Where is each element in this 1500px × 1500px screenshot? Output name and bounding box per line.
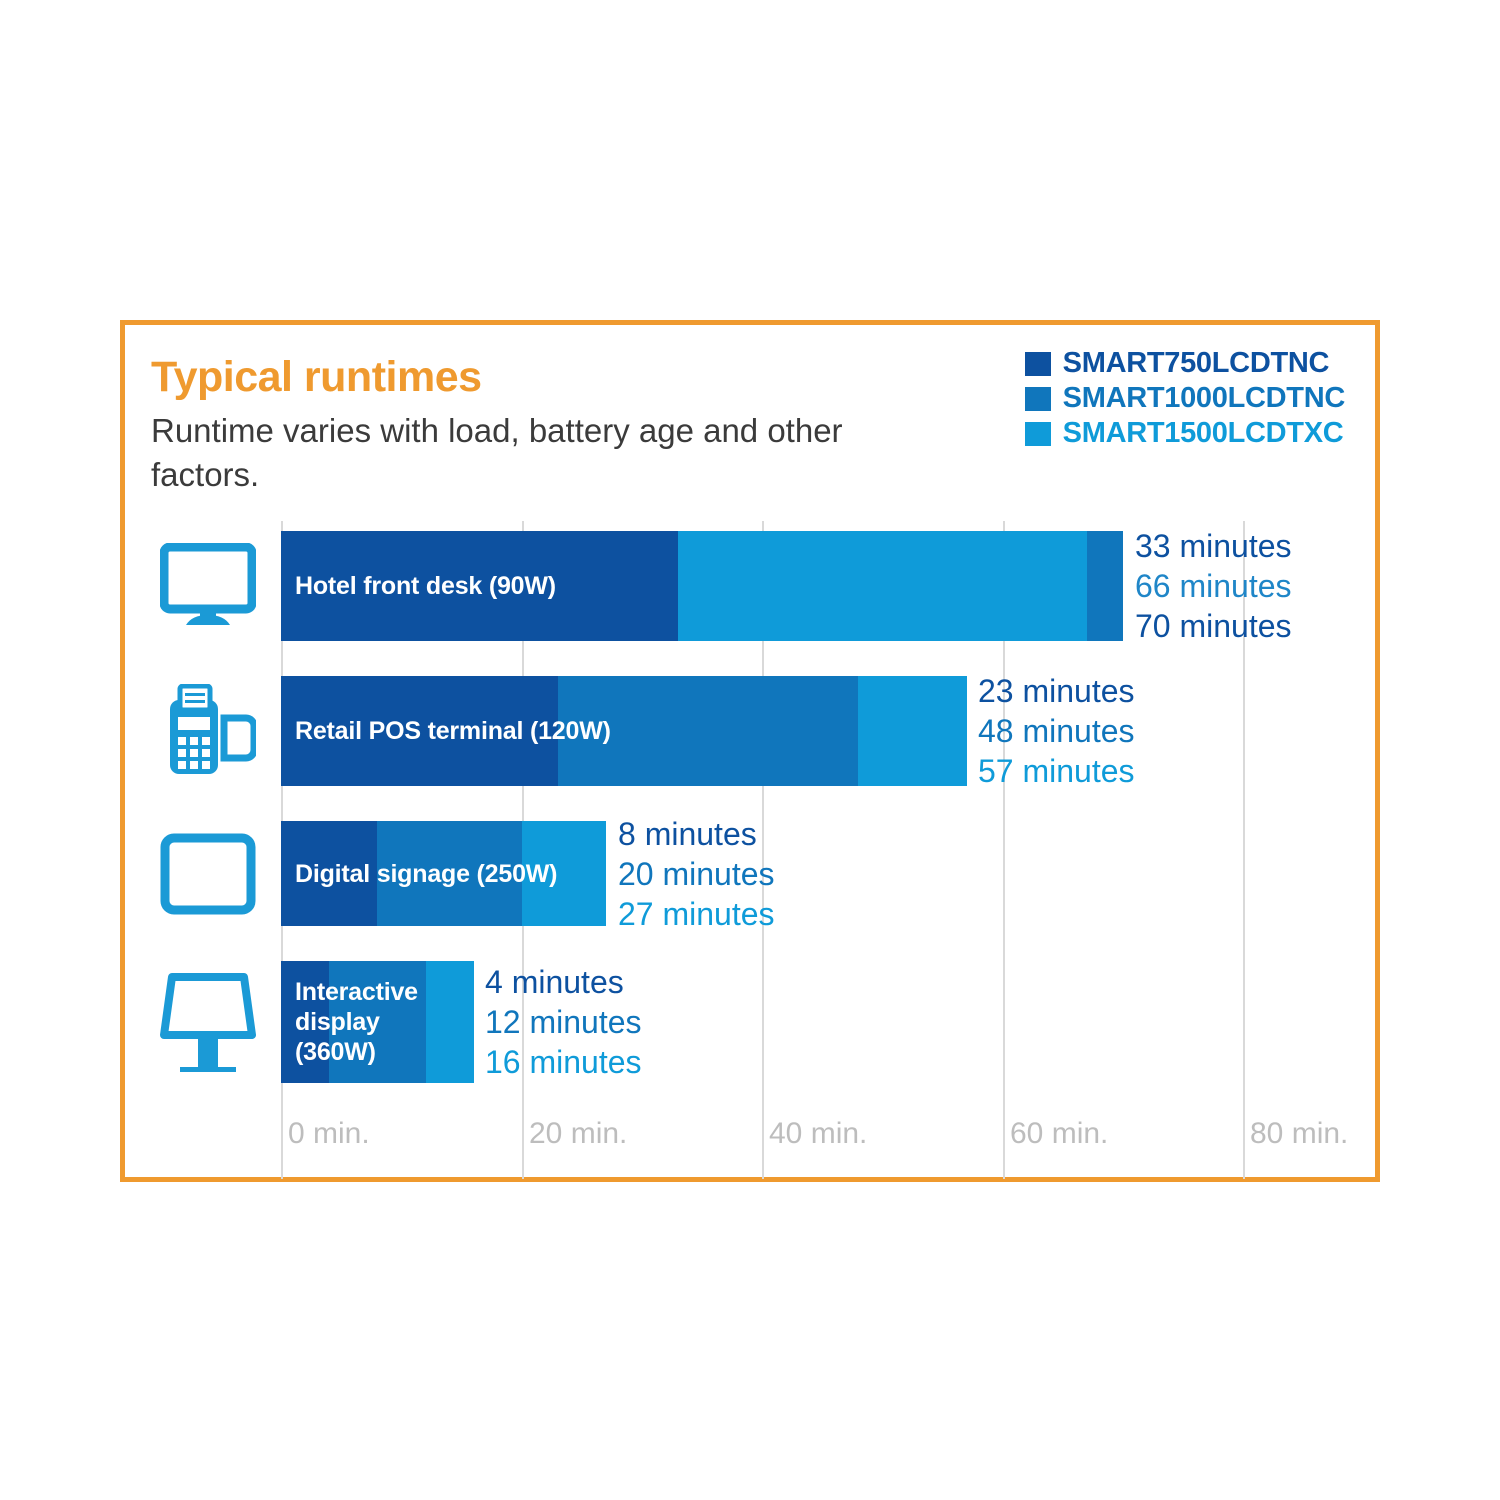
value-labels: 33 minutes 66 minutes 70 minutes <box>1135 531 1292 641</box>
value-label: 48 minutes <box>978 711 1135 751</box>
legend-item: SMART750LCDTNC <box>1025 347 1330 380</box>
chart-canvas: Typical runtimes Runtime varies with loa… <box>0 0 1500 1500</box>
legend-item-label: SMART1000LCDTNC <box>1063 382 1345 415</box>
value-label: 4 minutes <box>485 962 642 1002</box>
page-subtitle: Runtime varies with load, battery age an… <box>151 409 851 497</box>
legend-item: SMART1500LCDTXC <box>1025 417 1344 450</box>
value-label: 70 minutes <box>1135 606 1292 646</box>
legend-swatch-icon <box>1025 422 1051 446</box>
bar-row: Interactive display (360W) 4 minutes 12 … <box>125 961 1375 1083</box>
bar-interactive-display: Interactive display (360W) <box>281 961 474 1083</box>
legend: SMART750LCDTNC SMART1000LCDTNC SMART1500… <box>1025 347 1345 450</box>
bar-digital-signage: Digital signage (250W) <box>281 821 606 926</box>
bar-label: Retail POS terminal (120W) <box>295 716 611 746</box>
monitor-icon-svg <box>160 543 256 629</box>
bar-row: Retail POS terminal (120W) 23 minutes 48… <box>125 676 1375 786</box>
value-label: 23 minutes <box>978 671 1135 711</box>
axis-tick-label: 80 min. <box>1250 1117 1348 1151</box>
bar-retail-pos-terminal: Retail POS terminal (120W) <box>281 676 967 786</box>
chart-frame: Typical runtimes Runtime varies with loa… <box>120 320 1380 1182</box>
kiosk-icon-svg <box>160 967 256 1077</box>
axis-tick-label: 40 min. <box>769 1117 867 1151</box>
page-title: Typical runtimes <box>151 353 482 402</box>
bar-row: Hotel front desk (90W) 33 minutes 66 min… <box>125 531 1375 641</box>
bar-row: Digital signage (250W) 8 minutes 20 minu… <box>125 821 1375 926</box>
bar-hotel-front-desk: Hotel front desk (90W) <box>281 531 1123 641</box>
legend-swatch-icon <box>1025 387 1051 411</box>
pos-terminal-icon <box>150 676 265 786</box>
plot-area: 0 min. 20 min. 40 min. 60 min. 80 min. <box>125 521 1375 1179</box>
value-label: 27 minutes <box>618 894 775 934</box>
value-labels: 4 minutes 12 minutes 16 minutes <box>485 961 642 1083</box>
legend-swatch-icon <box>1025 352 1051 376</box>
kiosk-icon <box>150 961 265 1083</box>
axis-tick-label: 0 min. <box>288 1117 370 1151</box>
value-label: 57 minutes <box>978 751 1135 791</box>
axis-tick-label: 20 min. <box>529 1117 627 1151</box>
legend-item: SMART1000LCDTNC <box>1025 382 1345 415</box>
value-label: 66 minutes <box>1135 566 1292 606</box>
bar-label: Interactive display (360W) <box>295 977 474 1067</box>
value-label: 33 minutes <box>1135 526 1292 566</box>
legend-item-label: SMART1500LCDTXC <box>1063 417 1344 450</box>
bar-segment-series2 <box>1087 531 1123 641</box>
bar-segment-series3 <box>678 531 1087 641</box>
bar-label: Hotel front desk (90W) <box>295 571 556 601</box>
axis-tick-label: 60 min. <box>1010 1117 1108 1151</box>
value-label: 20 minutes <box>618 854 775 894</box>
bar-label: Digital signage (250W) <box>295 859 557 889</box>
value-label: 12 minutes <box>485 1002 642 1042</box>
value-label: 16 minutes <box>485 1042 642 1082</box>
bar-segment-series3 <box>858 676 967 786</box>
value-labels: 8 minutes 20 minutes 27 minutes <box>618 821 775 926</box>
value-labels: 23 minutes 48 minutes 57 minutes <box>978 676 1135 786</box>
tablet-icon <box>150 821 265 926</box>
legend-item-label: SMART750LCDTNC <box>1063 347 1330 380</box>
tablet-icon-svg <box>160 832 256 916</box>
value-label: 8 minutes <box>618 814 775 854</box>
monitor-icon <box>150 531 265 641</box>
pos-terminal-icon-svg <box>160 684 256 778</box>
